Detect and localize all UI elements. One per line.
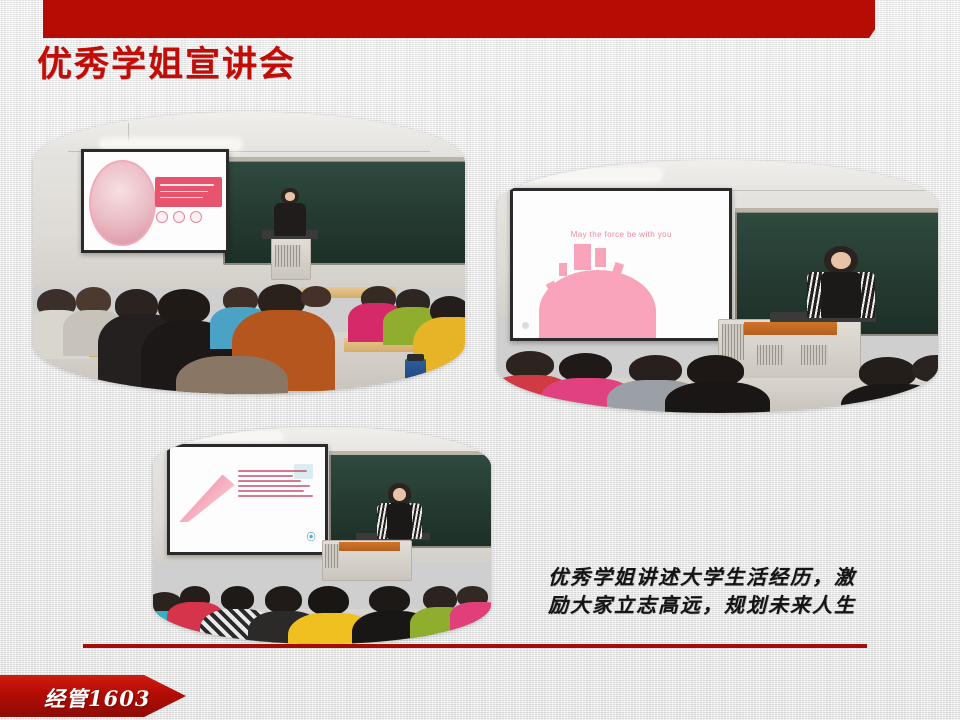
ceiling-lamp [515, 170, 661, 180]
audience-crowd [153, 540, 491, 644]
water-bottle [405, 359, 427, 383]
presentation-slide: 优秀学姐宣讲会 [0, 0, 960, 720]
slide-text-line [238, 470, 307, 472]
audience-crowd [497, 322, 938, 413]
slide-text-line [238, 485, 310, 487]
ceiling-lamp [102, 140, 240, 148]
audience-head [912, 355, 938, 382]
photo3-scene: ⦿ [153, 427, 491, 644]
audience-torso [450, 602, 491, 635]
slide-building [595, 248, 606, 267]
slide-pencil-illustration [179, 474, 235, 522]
audience-crowd [33, 219, 465, 394]
bottle-cap [407, 354, 424, 361]
audience-head [158, 289, 210, 324]
chalkboard-rail [735, 208, 938, 212]
audience-head [687, 355, 744, 386]
audience-torso [176, 356, 288, 394]
photo1-scene [33, 112, 465, 394]
audience-torso [665, 382, 771, 413]
audience-head [301, 286, 331, 307]
slide-text-bar [160, 191, 208, 193]
projection-screen: ⦿ [167, 444, 328, 554]
audience-head [308, 586, 349, 615]
slide-text-bar [160, 184, 214, 186]
photo-classroom-pink-slide [33, 112, 465, 394]
speaker-person [806, 246, 877, 317]
caption-line-1: 优秀学姐讲述大学生活经历，激 [548, 563, 936, 591]
photo2-scene: May the force be with you [497, 160, 938, 413]
speaker-vest [387, 503, 412, 539]
audience-head [369, 586, 410, 613]
caption-underline [83, 644, 867, 648]
slide-headline: May the force be with you [513, 230, 729, 239]
audience-head [265, 586, 302, 613]
photo-speaker-podium: May the force be with you [497, 160, 938, 413]
class-tag-label: 经管1603 [44, 683, 150, 713]
slide-text-line [238, 490, 304, 492]
slide-text-line [238, 480, 301, 482]
photo-audience-pencil-slide: ⦿ [153, 427, 491, 644]
slide-pink-panel [155, 177, 222, 207]
chalkboard-rail [223, 157, 465, 161]
ceiling-lamp [187, 434, 282, 441]
slide-text-line [238, 475, 293, 477]
projection-screen: May the force be with you [510, 188, 732, 341]
chalkboard-rail [329, 451, 491, 455]
top-red-banner [43, 0, 875, 38]
caption-line-2: 励大家立志高远，规划未来人生 [548, 591, 936, 619]
speaker-vest [821, 272, 861, 319]
speaker-person [376, 483, 423, 537]
audience-head [859, 357, 916, 388]
caption-text: 优秀学姐讲述大学生活经历，激 励大家立志高远，规划未来人生 [548, 563, 936, 620]
slide-text-bar [160, 197, 203, 199]
audience-torso [841, 384, 938, 413]
slide-text-line [238, 495, 313, 497]
slide-building [559, 263, 568, 276]
audience-head [221, 586, 255, 611]
slide-text-block [238, 470, 313, 500]
slide-building [574, 244, 591, 270]
page-title: 优秀学姐宣讲会 [37, 44, 296, 86]
